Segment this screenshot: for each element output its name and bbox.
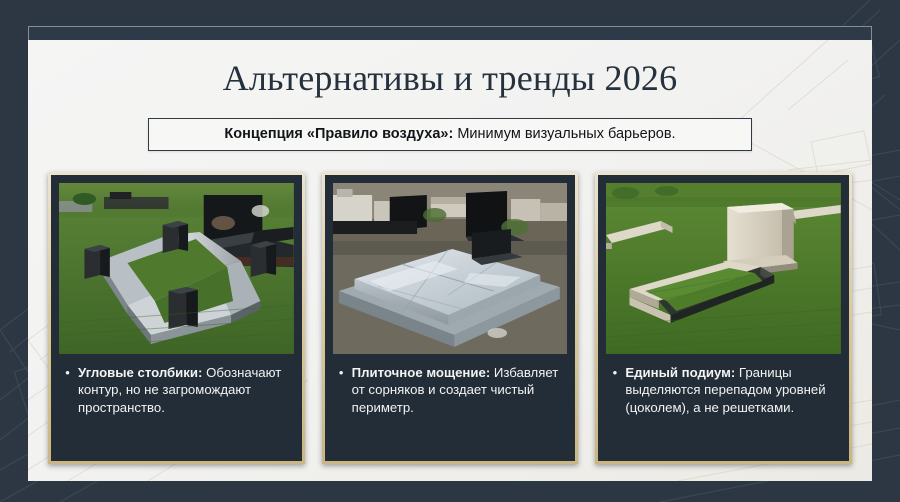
card-caption: • Единый подиум: Границы выделяются пере…: [606, 354, 841, 461]
card-tiled-paving[interactable]: • Плиточное мощение: Избавляет от сорняк…: [322, 172, 579, 464]
caption-heading: Угловые столбики:: [78, 365, 202, 380]
bullet-icon: •: [63, 364, 72, 455]
concept-banner: Концепция «Правило воздуха»: Минимум виз…: [148, 118, 752, 151]
single-podium-grave-photo: [606, 183, 841, 354]
bullet-icon: •: [337, 364, 346, 455]
cards-row: • Угловые столбики: Обозначают контур, н…: [48, 172, 852, 464]
concept-banner-text: Концепция «Правило воздуха»: Минимум виз…: [224, 127, 675, 142]
tiled-paving-grave-photo: [333, 183, 568, 354]
card-inner: • Угловые столбики: Обозначают контур, н…: [51, 175, 302, 461]
card-inner: • Плиточное мощение: Избавляет от сорняк…: [325, 175, 576, 461]
caption-text: Угловые столбики: Обозначают контур, но …: [78, 364, 288, 455]
page-title: Альтернативы и тренды 2026: [28, 57, 872, 99]
caption-heading: Плиточное мощение:: [352, 365, 491, 380]
corner-posts-grave-photo: [59, 183, 294, 354]
slide-panel: Альтернативы и тренды 2026 Концепция «Пр…: [28, 40, 872, 481]
concept-label: Концепция «Правило воздуха»:: [224, 126, 453, 142]
caption-text: Единый подиум: Границы выделяются перепа…: [625, 364, 835, 455]
slide-root: — — — — — — — — — — — — — — —: [0, 0, 900, 502]
card-inner: • Единый подиум: Границы выделяются пере…: [598, 175, 849, 461]
card-caption: • Угловые столбики: Обозначают контур, н…: [59, 354, 294, 461]
concept-body: Минимум визуальных барьеров.: [453, 126, 675, 142]
bullet-icon: •: [610, 364, 619, 455]
card-caption: • Плиточное мощение: Избавляет от сорняк…: [333, 354, 568, 461]
caption-text: Плиточное мощение: Избавляет от сорняков…: [352, 364, 562, 455]
caption-heading: Единый подиум:: [625, 365, 735, 380]
card-corner-posts[interactable]: • Угловые столбики: Обозначают контур, н…: [48, 172, 305, 464]
card-single-podium[interactable]: • Единый подиум: Границы выделяются пере…: [595, 172, 852, 464]
